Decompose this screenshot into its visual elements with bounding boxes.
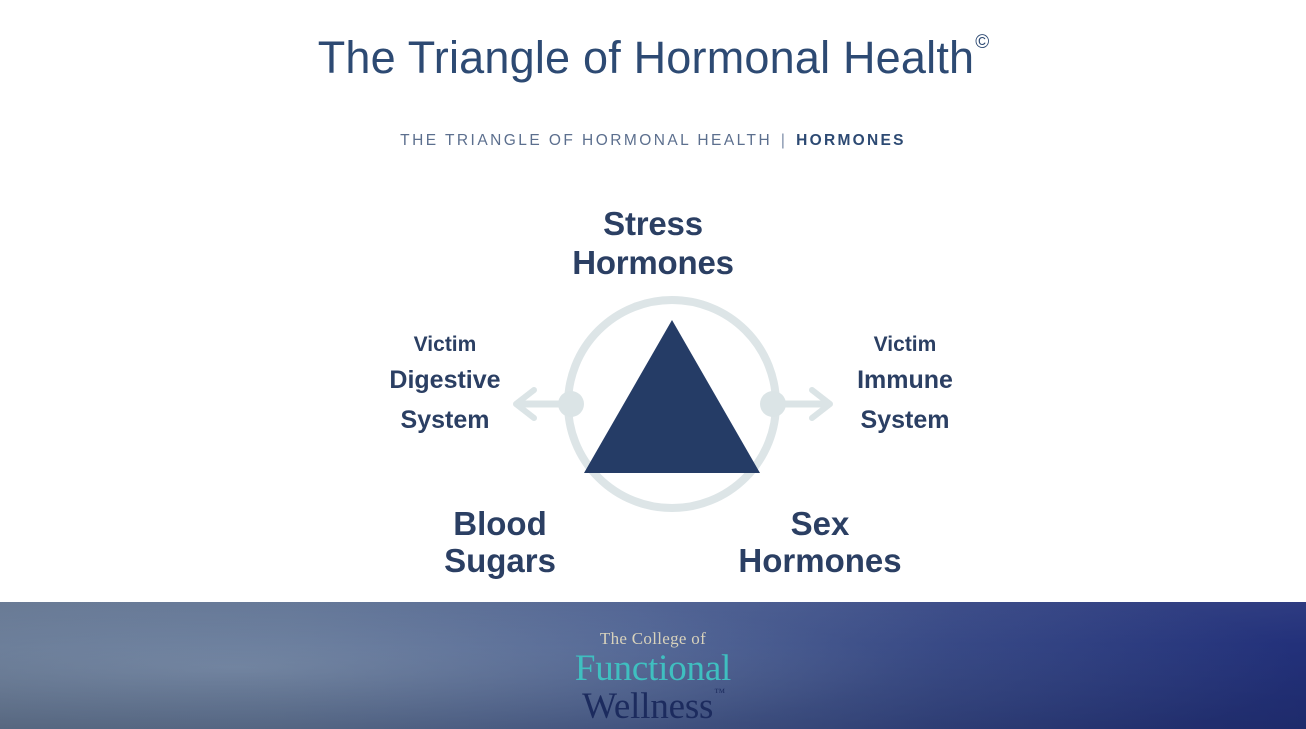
logo-line-college: The College of [0, 630, 1306, 647]
trademark-icon: ™ [714, 687, 725, 699]
triangle-shape [584, 320, 760, 473]
label-digestive-victim: Victim [300, 328, 590, 361]
logo-line-functional: Functional [0, 650, 1306, 688]
label-immune-victim: Victim [760, 328, 1050, 361]
label-blood-sugars: Blood Sugars [330, 505, 670, 580]
label-blood-sugars-line2: Sugars [444, 542, 556, 579]
label-stress-hormones-line1: Stress [603, 205, 703, 242]
label-stress-hormones: Stress Hormones [0, 205, 1306, 283]
breadcrumb-section: HORMONES [796, 132, 906, 149]
copyright-icon: © [975, 32, 989, 53]
footer-band: The College of Functional Wellness™ [0, 602, 1306, 729]
label-blood-sugars-line1: Blood [453, 505, 546, 542]
label-digestive-line2: Digestive [389, 366, 500, 394]
breadcrumb-course: THE TRIANGLE OF HORMONAL HEALTH [400, 132, 772, 149]
breadcrumb: THE TRIANGLE OF HORMONAL HEALTH | HORMON… [0, 132, 1306, 150]
label-sex-hormones-line1: Sex [791, 505, 850, 542]
brand-logo: The College of Functional Wellness™ [0, 630, 1306, 725]
label-immune-line3: System [861, 406, 950, 434]
page-title: The Triangle of Hormonal Health© [0, 34, 1306, 83]
label-immune-system: Victim Immune System [760, 328, 1050, 440]
label-sex-hormones: Sex Hormones [650, 505, 990, 580]
label-immune-line2: Immune [857, 366, 953, 394]
slide-canvas: The Triangle of Hormonal Health© THE TRI… [0, 0, 1306, 729]
label-sex-hormones-line2: Hormones [738, 542, 901, 579]
page-title-text: The Triangle of Hormonal Health [318, 32, 975, 83]
logo-wellness-text: Wellness [582, 686, 713, 727]
label-digestive-system: Victim Digestive System [300, 328, 590, 440]
breadcrumb-divider: | [779, 132, 789, 149]
label-stress-hormones-line2: Hormones [572, 244, 734, 281]
logo-line-wellness: Wellness™ [0, 688, 1306, 726]
triangle-diagram: Stress Hormones Victim Digestive System … [0, 185, 1306, 595]
label-digestive-line3: System [401, 406, 490, 434]
